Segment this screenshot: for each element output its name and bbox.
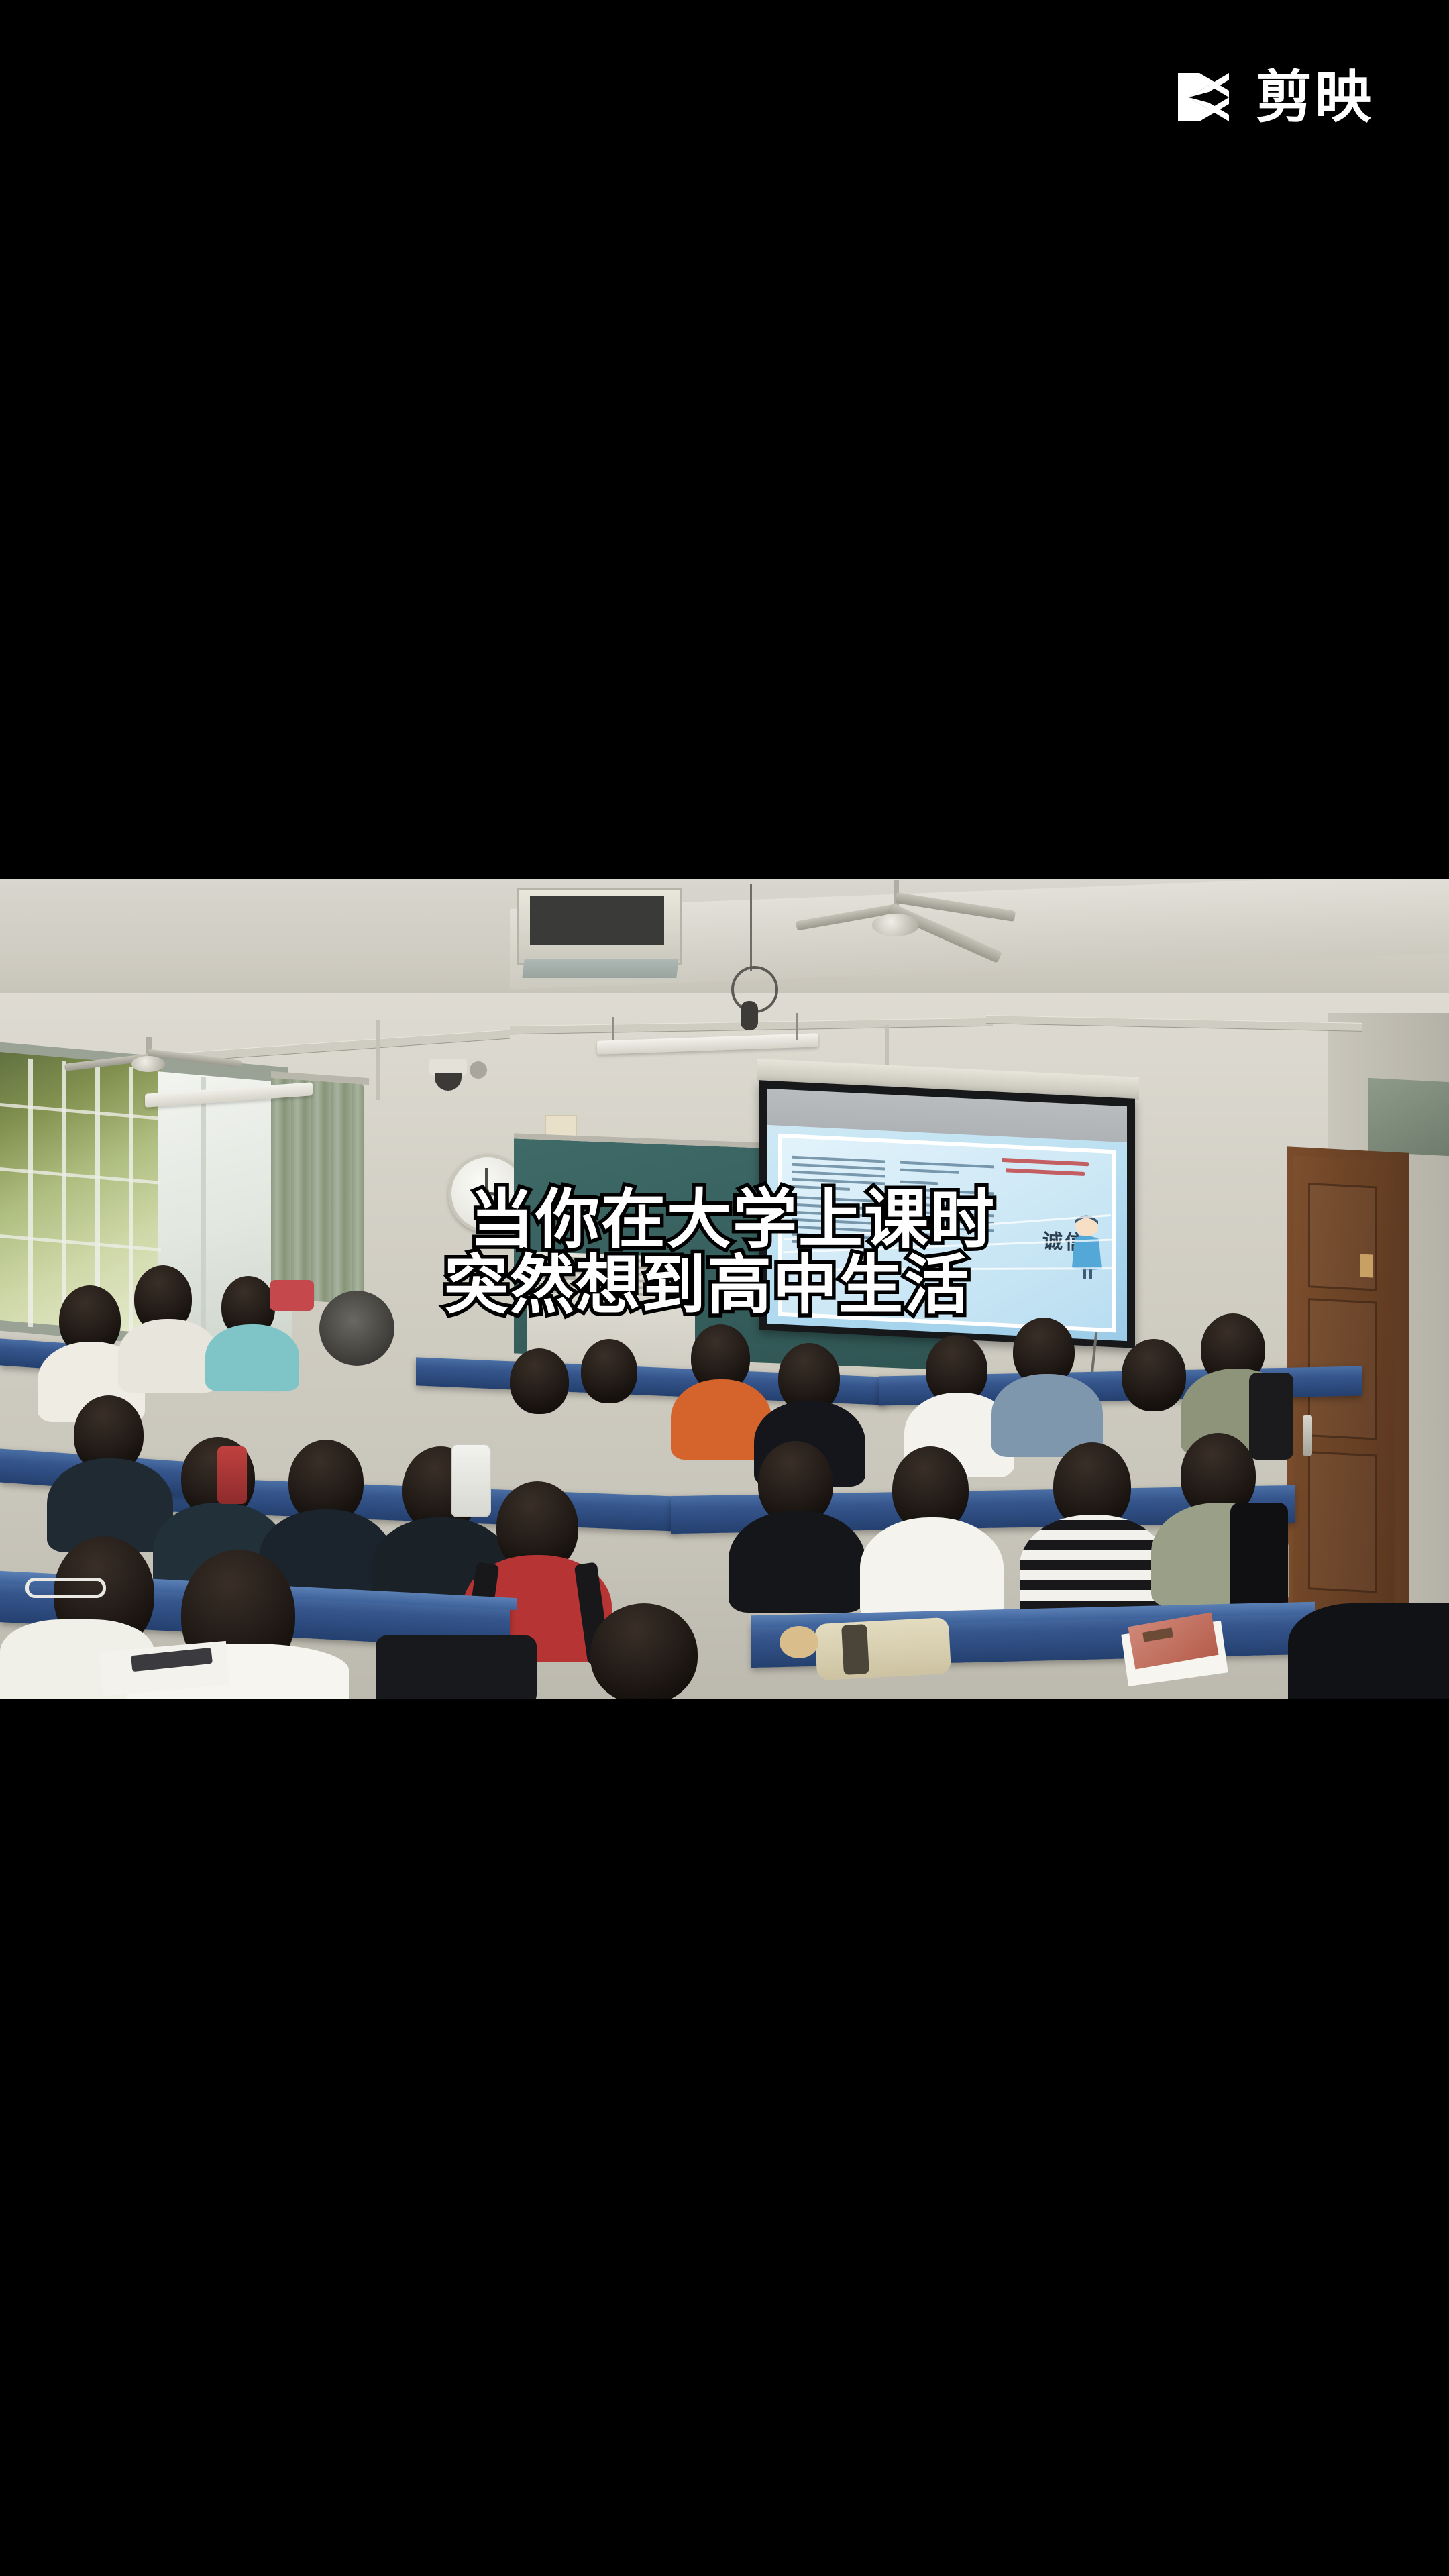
red-water-bottle — [217, 1446, 247, 1504]
light-hanger — [796, 1013, 798, 1040]
watermark-brand-label: 剪映 — [1256, 62, 1374, 132]
student-head — [590, 1603, 698, 1699]
student-body-striped — [1020, 1515, 1167, 1621]
security-camera-mount — [429, 1059, 467, 1075]
beige-backpack — [814, 1617, 951, 1680]
eyeglasses-icon — [25, 1578, 106, 1598]
cabinet-louver — [537, 1289, 686, 1297]
teddy-bear-keychain — [780, 1626, 818, 1658]
capcut-logo-icon — [1169, 62, 1238, 132]
window-bar — [129, 1067, 133, 1336]
transom-window — [1368, 1078, 1449, 1156]
door-panel — [1308, 1451, 1377, 1593]
cabinet-louver — [537, 1276, 686, 1284]
desk-item-pink-bag — [270, 1280, 314, 1311]
window-curtain — [271, 1077, 364, 1305]
slide-title-block — [985, 1157, 1106, 1183]
student-body — [118, 1319, 219, 1393]
wall-mounted-fan — [319, 1291, 394, 1366]
window-mullion — [201, 1077, 206, 1340]
student-head — [1122, 1339, 1186, 1411]
student-head — [510, 1348, 569, 1414]
student-head — [581, 1339, 637, 1403]
slide-cartoon-figure-icon — [1069, 1214, 1104, 1280]
wall-speaker — [470, 1061, 487, 1079]
slide-title-line-2 — [1006, 1168, 1085, 1176]
cabinet-louver — [537, 1283, 686, 1291]
white-water-bottle — [451, 1444, 491, 1517]
backpack — [1249, 1373, 1293, 1460]
ceiling-fan-hub — [131, 1056, 165, 1072]
light-switch[interactable] — [1360, 1254, 1373, 1278]
cabinet-louver — [537, 1269, 686, 1277]
projector-interior — [530, 896, 664, 945]
classroom-photo: 诚信 — [0, 879, 1449, 1699]
ceiling-fan-hub — [872, 914, 919, 936]
student-body — [1288, 1603, 1449, 1699]
slide-text-column-right — [900, 1161, 994, 1244]
clock-center — [482, 1188, 489, 1195]
door-handle[interactable] — [1303, 1415, 1312, 1456]
backpack — [376, 1635, 537, 1699]
light-hanger — [612, 1017, 614, 1040]
student-body-white — [860, 1517, 1004, 1622]
backpack-strap — [841, 1624, 869, 1675]
clock-hand-hour — [486, 1192, 504, 1197]
slide-content: 诚信 — [778, 1134, 1116, 1333]
student-body-black — [729, 1511, 865, 1613]
slide-decor-line — [782, 1267, 1112, 1271]
microphone-wire — [750, 884, 752, 971]
slide-title-line-1 — [1002, 1158, 1089, 1166]
window-bar — [28, 1059, 33, 1328]
cabinet-louver — [537, 1256, 686, 1264]
window-bar — [62, 1061, 66, 1330]
conduit-drop — [376, 1020, 380, 1100]
backpack — [1230, 1503, 1288, 1617]
microphone-icon — [741, 1001, 758, 1030]
projector-underside — [522, 959, 678, 978]
projector-screen: 诚信 — [767, 1125, 1127, 1341]
student-body — [205, 1324, 299, 1391]
capcut-watermark: 剪映 — [1169, 62, 1390, 133]
cabinet-louver — [537, 1263, 686, 1271]
